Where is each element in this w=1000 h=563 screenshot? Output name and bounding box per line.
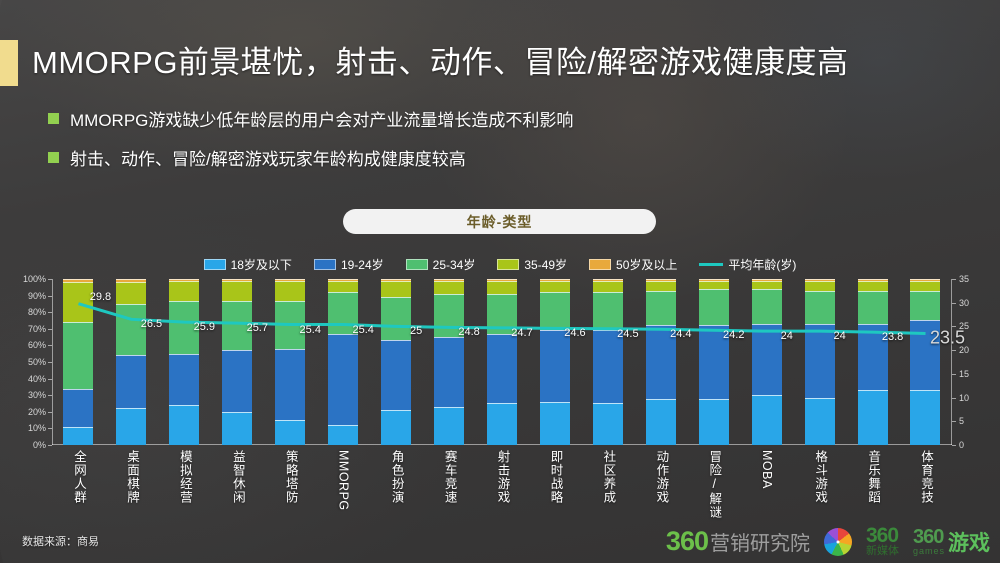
bar-segment <box>805 291 835 324</box>
x-axis-label: 冒险/解谜 <box>707 450 720 520</box>
bar-segment <box>910 291 940 321</box>
bar-segment <box>116 355 146 408</box>
legend-label: 平均年龄(岁) <box>728 256 796 273</box>
bar-segment <box>646 325 676 398</box>
x-label-slot: 动作游戏 <box>634 450 687 520</box>
logo-360cn-sub: 新媒体 <box>866 546 899 557</box>
legend-item: 25-34岁 <box>406 256 476 273</box>
legend-label: 25-34岁 <box>433 256 476 273</box>
bar-segment <box>275 301 305 349</box>
y-axis-tick-label: 50% <box>28 357 46 367</box>
y-axis-tick-label: 10% <box>28 423 46 433</box>
bar-segment <box>434 337 464 407</box>
legend-label: 35-49岁 <box>524 256 567 273</box>
y2-axis-tick-label: 5 <box>959 416 964 426</box>
bar-slot <box>158 279 211 445</box>
bar-segment <box>63 282 93 322</box>
x-axis-label: 模拟经营 <box>178 450 191 520</box>
bar-segment <box>169 354 199 405</box>
bar-segment <box>63 427 93 445</box>
bullet-list: MMORPG游戏缺少低年龄层的用户会对产业流量增长造成不利影响 射击、动作、冒险… <box>48 106 573 184</box>
bar-segment <box>752 324 782 395</box>
logo-360-number: 360 <box>666 526 708 557</box>
page-title: MMORPG前景堪忧，射击、动作、冒险/解密游戏健康度高 <box>32 40 849 86</box>
x-label-slot: 模拟经营 <box>158 450 211 520</box>
y-axis-tick-label: 40% <box>28 374 46 384</box>
legend-swatch-icon <box>314 259 336 270</box>
bar-segment <box>222 281 252 301</box>
stacked-bar[interactable] <box>275 279 305 445</box>
square-bullet-icon <box>48 152 59 163</box>
y2-axis-tick-mark <box>952 303 956 304</box>
bar-segment <box>910 390 940 445</box>
bar-slot <box>581 279 634 445</box>
bar-slot <box>476 279 529 445</box>
x-axis-label: MOBA <box>760 450 773 520</box>
bar-segment <box>381 297 411 340</box>
bar-segment <box>169 301 199 354</box>
legend-item: 18岁及以下 <box>204 256 292 273</box>
y2-axis-tick-mark <box>952 398 956 399</box>
chart-title-banner: 年龄-类型 <box>343 209 656 234</box>
chart-legend: 18岁及以下19-24岁25-34岁35-49岁50岁及以上平均年龄(岁) <box>0 256 1000 273</box>
bar-segment <box>116 408 146 445</box>
x-label-slot: 益智休闲 <box>211 450 264 520</box>
bar-segment <box>593 281 623 293</box>
square-bullet-icon <box>48 113 59 124</box>
y-axis-tick-label: 30% <box>28 390 46 400</box>
legend-swatch-icon <box>497 259 519 270</box>
bar-segment <box>328 292 358 334</box>
bar-segment <box>434 281 464 294</box>
y2-axis-tick-label: 35 <box>959 274 969 284</box>
x-label-slot: 策略塔防 <box>264 450 317 520</box>
bar-segment <box>434 294 464 337</box>
y2-axis-tick-label: 20 <box>959 345 969 355</box>
bar-segment <box>646 399 676 445</box>
y-axis-tick-label: 90% <box>28 291 46 301</box>
slide-title-row: MMORPG前景堪忧，射击、动作、冒险/解密游戏健康度高 <box>0 40 849 86</box>
bar-segment <box>169 405 199 445</box>
legend-swatch-icon <box>204 259 226 270</box>
bar-slot <box>105 279 158 445</box>
x-axis-label: 即时战略 <box>548 450 561 520</box>
y-axis-tick-mark <box>48 445 52 446</box>
bar-segment <box>540 330 570 401</box>
x-label-slot: 赛车竞速 <box>423 450 476 520</box>
stacked-bar[interactable] <box>116 279 146 445</box>
legend-label: 18岁及以下 <box>231 256 292 273</box>
bullet-text: MMORPG游戏缺少低年龄层的用户会对产业流量增长造成不利影响 <box>70 106 573 131</box>
chart-plot-area: 0%10%20%30%40%50%60%70%80%90%100% 051015… <box>52 279 952 445</box>
bar-slot <box>793 279 846 445</box>
x-axis-label: 音乐舞蹈 <box>866 450 879 520</box>
bar-segment <box>699 325 729 398</box>
x-axis-label: 角色扮演 <box>390 450 403 520</box>
x-label-slot: 体育竞技 <box>899 450 952 520</box>
bar-segment <box>593 292 623 330</box>
bar-slot <box>740 279 793 445</box>
x-label-slot: 格斗游戏 <box>793 450 846 520</box>
360-pinwheel-icon <box>824 528 852 556</box>
bar-slot <box>423 279 476 445</box>
bar-slot <box>52 279 105 445</box>
x-axis-label: 策略塔防 <box>284 450 297 520</box>
legend-item: 19-24岁 <box>314 256 384 273</box>
y-axis-tick-label: 60% <box>28 340 46 350</box>
bar-segment <box>487 281 517 294</box>
y2-axis-tick-label: 15 <box>959 369 969 379</box>
logo-360-new-media: 360 新媒体 <box>866 526 899 557</box>
x-label-slot: MOBA <box>740 450 793 520</box>
x-label-slot: 桌面棋牌 <box>105 450 158 520</box>
bar-slot <box>846 279 899 445</box>
bar-segment <box>858 324 888 390</box>
bar-segment <box>593 403 623 445</box>
stacked-bar[interactable] <box>487 279 517 445</box>
x-axis-label: 格斗游戏 <box>813 450 826 520</box>
bar-segment <box>540 281 570 293</box>
bar-segment <box>858 281 888 291</box>
y2-axis-tick-mark <box>952 326 956 327</box>
x-label-slot: 即时战略 <box>528 450 581 520</box>
bar-segment <box>699 289 729 326</box>
bar-slot <box>528 279 581 445</box>
x-axis-label: MMORPG <box>337 450 350 520</box>
data-source-note: 数据来源：商易 <box>22 533 99 549</box>
bar-segment <box>328 425 358 445</box>
bar-segment <box>593 330 623 403</box>
stacked-bar[interactable] <box>646 279 676 445</box>
bar-segment <box>805 281 835 291</box>
bar-segment <box>858 291 888 324</box>
stacked-bar[interactable] <box>593 279 623 445</box>
x-axis-label: 桌面棋牌 <box>125 450 138 520</box>
bar-segment <box>63 389 93 427</box>
bar-segment <box>805 398 835 444</box>
bar-segment <box>858 390 888 445</box>
x-label-slot: 角色扮演 <box>370 450 423 520</box>
y2-axis-tick-mark <box>952 279 956 280</box>
legend-label: 19-24岁 <box>341 256 384 273</box>
legend-swatch-icon <box>589 259 611 270</box>
bar-slot <box>370 279 423 445</box>
legend-label: 50岁及以上 <box>616 256 677 273</box>
bar-segment <box>540 402 570 445</box>
bar-segment <box>487 294 517 334</box>
x-axis-label: 益智休闲 <box>231 450 244 520</box>
logo-games-number: 360 <box>913 528 945 547</box>
title-accent-bar <box>0 40 18 86</box>
stacked-bar[interactable] <box>381 279 411 445</box>
x-label-slot: 音乐舞蹈 <box>846 450 899 520</box>
bar-segment <box>222 301 252 351</box>
bar-segment <box>646 281 676 291</box>
bar-segment <box>910 320 940 390</box>
logo-360-marketing-research-institute: 360 营销研究院 <box>666 526 810 557</box>
stacked-bar[interactable] <box>63 279 93 445</box>
bar-segment <box>434 407 464 445</box>
bar-segment <box>275 349 305 420</box>
stacked-bar[interactable] <box>752 279 782 445</box>
stacked-bars <box>52 279 952 445</box>
legend-swatch-icon <box>406 259 428 270</box>
bar-segment <box>381 410 411 445</box>
legend-item: 35-49岁 <box>497 256 567 273</box>
y2-axis-tick-label: 10 <box>959 393 969 403</box>
logo-360-cn-text: 营销研究院 <box>710 527 810 556</box>
bar-segment <box>169 281 199 301</box>
bar-segment <box>910 281 940 291</box>
y-axis-tick-label: 70% <box>28 324 46 334</box>
bar-segment <box>805 324 835 399</box>
logo-360cn-number: 360 <box>866 526 899 546</box>
stacked-bar[interactable] <box>222 279 252 445</box>
stacked-bar[interactable] <box>910 279 940 445</box>
y-axis-tick-label: 100% <box>23 274 46 284</box>
y2-axis-tick-label: 25 <box>959 321 969 331</box>
x-label-slot: MMORPG <box>317 450 370 520</box>
y2-axis-tick-mark <box>952 374 956 375</box>
logo-games-cn: 游戏 <box>948 527 990 557</box>
y2-axis-tick-mark <box>952 350 956 351</box>
bar-slot <box>899 279 952 445</box>
y2-axis-tick-mark <box>952 421 956 422</box>
y-axis-tick-label: 0% <box>33 440 46 450</box>
bar-segment <box>222 350 252 411</box>
bar-segment <box>487 403 517 445</box>
bar-segment <box>540 292 570 330</box>
legend-item-average-line: 平均年龄(岁) <box>699 256 796 273</box>
bar-slot <box>687 279 740 445</box>
legend-item: 50岁及以上 <box>589 256 677 273</box>
x-axis-labels: 全网人群桌面棋牌模拟经营益智休闲策略塔防MMORPG角色扮演赛车竞速射击游戏即时… <box>52 450 952 520</box>
bar-segment <box>275 420 305 445</box>
stacked-bar[interactable] <box>858 279 888 445</box>
bullet-item: MMORPG游戏缺少低年龄层的用户会对产业流量增长造成不利影响 <box>48 106 573 131</box>
bar-segment <box>116 304 146 355</box>
bullet-text: 射击、动作、冒险/解密游戏玩家年龄构成健康度较高 <box>70 145 466 170</box>
stacked-bar[interactable] <box>699 279 729 445</box>
bar-segment <box>328 281 358 293</box>
bar-segment <box>699 399 729 445</box>
bar-segment <box>699 281 729 289</box>
x-axis-label: 体育竞技 <box>919 450 932 520</box>
bar-segment <box>328 334 358 425</box>
bar-segment <box>381 340 411 410</box>
logo-360-games: 360 games 游戏 <box>913 527 990 557</box>
y-axis-tick-label: 20% <box>28 407 46 417</box>
bar-slot <box>634 279 687 445</box>
bar-segment <box>275 281 305 301</box>
stacked-bar[interactable] <box>328 279 358 445</box>
bullet-item: 射击、动作、冒险/解密游戏玩家年龄构成健康度较高 <box>48 145 573 170</box>
bar-segment <box>381 281 411 298</box>
bar-segment <box>752 289 782 324</box>
y2-axis-tick-mark <box>952 445 956 446</box>
x-axis-label: 赛车竞速 <box>442 450 455 520</box>
x-axis-label: 动作游戏 <box>654 450 667 520</box>
stacked-bar[interactable] <box>434 279 464 445</box>
bar-segment <box>63 322 93 388</box>
x-label-slot: 全网人群 <box>52 450 105 520</box>
bar-segment <box>116 282 146 304</box>
y2-axis-tick-label: 0 <box>959 440 964 450</box>
x-axis-label: 社区养成 <box>601 450 614 520</box>
y-axis-tick-label: 80% <box>28 307 46 317</box>
y2-axis-tick-label: 30 <box>959 298 969 308</box>
x-label-slot: 冒险/解谜 <box>687 450 740 520</box>
stacked-bar[interactable] <box>169 279 199 445</box>
bar-segment <box>222 412 252 445</box>
bar-slot <box>264 279 317 445</box>
x-axis-label: 射击游戏 <box>495 450 508 520</box>
bar-segment <box>646 291 676 326</box>
legend-line-icon <box>699 263 723 266</box>
bar-slot <box>317 279 370 445</box>
stacked-bar[interactable] <box>540 279 570 445</box>
stacked-bar[interactable] <box>805 279 835 445</box>
bar-segment <box>752 395 782 445</box>
x-label-slot: 社区养成 <box>581 450 634 520</box>
x-axis-label: 全网人群 <box>72 450 85 520</box>
logo-games-sub: games <box>913 547 945 556</box>
bar-segment <box>752 281 782 289</box>
footer-logos: 360 营销研究院 360 新媒体 360 games 游戏 <box>666 526 990 557</box>
bar-slot <box>211 279 264 445</box>
bar-segment <box>487 334 517 404</box>
x-label-slot: 射击游戏 <box>476 450 529 520</box>
